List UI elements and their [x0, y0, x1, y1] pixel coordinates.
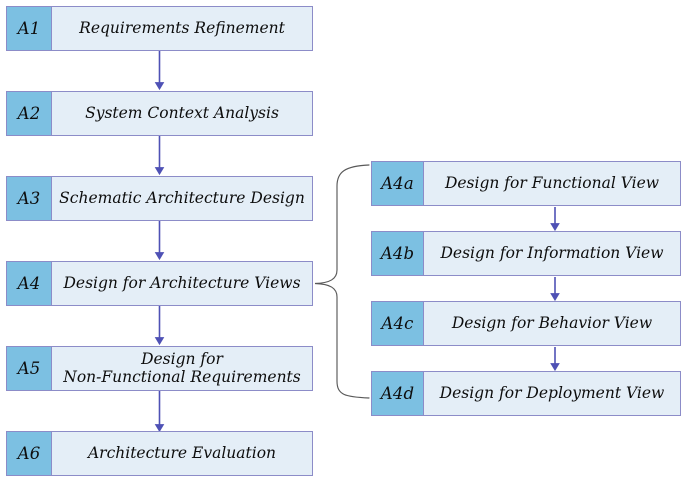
- process-box-a4d[interactable]: A4d Design for Deployment View: [371, 371, 681, 416]
- process-code-a4a: A4a: [372, 162, 424, 205]
- process-box-a1[interactable]: A1 Requirements Refinement: [6, 6, 313, 51]
- process-label-a5: Design for Non-Functional Requirements: [52, 347, 312, 390]
- process-label-a4a: Design for Functional View: [424, 162, 680, 205]
- process-label-a2: System Context Analysis: [52, 92, 312, 135]
- process-code-a3: A3: [7, 177, 52, 220]
- process-code-a2: A2: [7, 92, 52, 135]
- process-code-a4: A4: [7, 262, 52, 305]
- process-code-a6: A6: [7, 432, 52, 475]
- process-box-a4a[interactable]: A4a Design for Functional View: [371, 161, 681, 206]
- process-box-a4b[interactable]: A4b Design for Information View: [371, 231, 681, 276]
- process-code-a4d: A4d: [372, 372, 424, 415]
- process-box-a6[interactable]: A6 Architecture Evaluation: [6, 431, 313, 476]
- process-label-a4b: Design for Information View: [424, 232, 680, 275]
- process-box-a3[interactable]: A3 Schematic Architecture Design: [6, 176, 313, 221]
- process-code-a4c: A4c: [372, 302, 424, 345]
- process-label-a3: Schematic Architecture Design: [52, 177, 312, 220]
- process-code-a4b: A4b: [372, 232, 424, 275]
- process-code-a5: A5: [7, 347, 52, 390]
- process-label-a4d: Design for Deployment View: [424, 372, 680, 415]
- process-label-a1: Requirements Refinement: [52, 7, 312, 50]
- process-code-a1: A1: [7, 7, 52, 50]
- process-label-a6: Architecture Evaluation: [52, 432, 312, 475]
- process-box-a4c[interactable]: A4c Design for Behavior View: [371, 301, 681, 346]
- process-box-a5[interactable]: A5 Design for Non-Functional Requirement…: [6, 346, 313, 391]
- process-box-a2[interactable]: A2 System Context Analysis: [6, 91, 313, 136]
- process-box-a4[interactable]: A4 Design for Architecture Views: [6, 261, 313, 306]
- grouping-brace: [315, 165, 369, 398]
- process-label-a4: Design for Architecture Views: [52, 262, 312, 305]
- flowchart-canvas: A1 Requirements Refinement A2 System Con…: [0, 0, 685, 478]
- process-label-a4c: Design for Behavior View: [424, 302, 680, 345]
